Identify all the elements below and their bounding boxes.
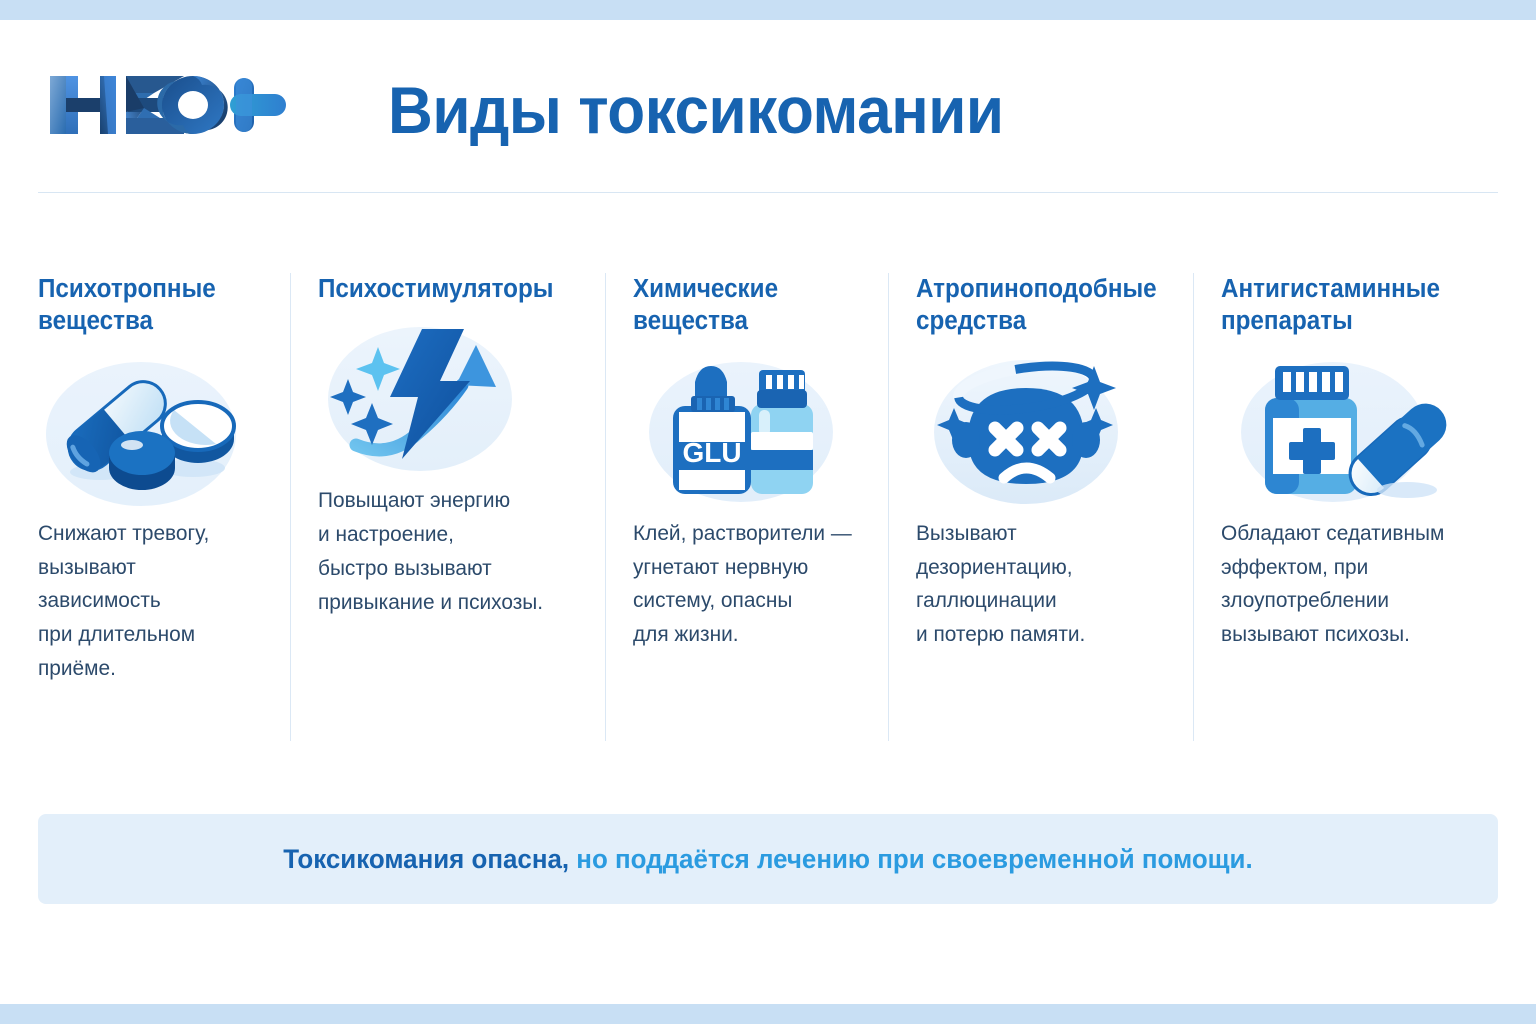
category-title: Психостимуляторы: [318, 273, 570, 305]
lightning-arrow-sparkle-icon: [318, 319, 548, 484]
category-column-chemicals: Химические вещества: [605, 273, 888, 743]
neo-plus-logo: [48, 68, 288, 142]
category-title: Атропиноподобные средства: [916, 273, 1158, 338]
category-column-psychotropic: Психотропные вещества: [0, 273, 290, 743]
footer-banner: Токсикомания опасна, но поддаётся лечени…: [38, 814, 1498, 904]
glue-label: GLU: [682, 437, 741, 468]
category-description: Клей, растворители — угнетают нервную си…: [633, 517, 859, 652]
bottom-accent-band: [0, 1004, 1536, 1024]
category-column-stimulants: Психостимуляторы: [290, 273, 605, 743]
infographic-page: Виды токсикомании Психотропные вещества: [0, 0, 1536, 1024]
category-description: Вызывают дезориентацию, галлюцинации и п…: [916, 517, 1163, 652]
category-description: Снижают тревогу, вызывают зависимость пр…: [38, 517, 261, 686]
footer-message: Токсикомания опасна, но поддаётся лечени…: [283, 844, 1252, 875]
category-title: Антигистаминные препараты: [1221, 273, 1499, 338]
footer-strong-text: Токсикомания опасна,: [283, 844, 569, 874]
category-title: Психотропные вещества: [38, 273, 257, 338]
pills-capsule-icon: [38, 352, 268, 517]
category-title: Химические вещества: [633, 273, 854, 338]
category-columns: Психотропные вещества: [0, 273, 1536, 743]
top-accent-band: [0, 0, 1536, 20]
header-divider: [38, 192, 1498, 193]
glue-solvent-bottles-icon: GLU: [633, 352, 863, 517]
dizzy-face-icon: [916, 352, 1146, 517]
category-description: Повыщают энергию и настроение, быстро вы…: [318, 484, 575, 619]
medicine-bottle-capsule-icon: [1221, 352, 1451, 517]
category-column-antihistamines: Антигистаминные препараты: [1193, 273, 1536, 743]
header: Виды токсикомании: [0, 20, 1536, 193]
page-title: Виды токсикомании: [388, 72, 1004, 148]
category-description: Обладают седативным эффектом, при злоупо…: [1221, 517, 1505, 652]
footer-rest-text: но поддаётся лечению при своевременной п…: [569, 844, 1253, 874]
category-column-atropine: Атропиноподобные средства: [888, 273, 1193, 743]
